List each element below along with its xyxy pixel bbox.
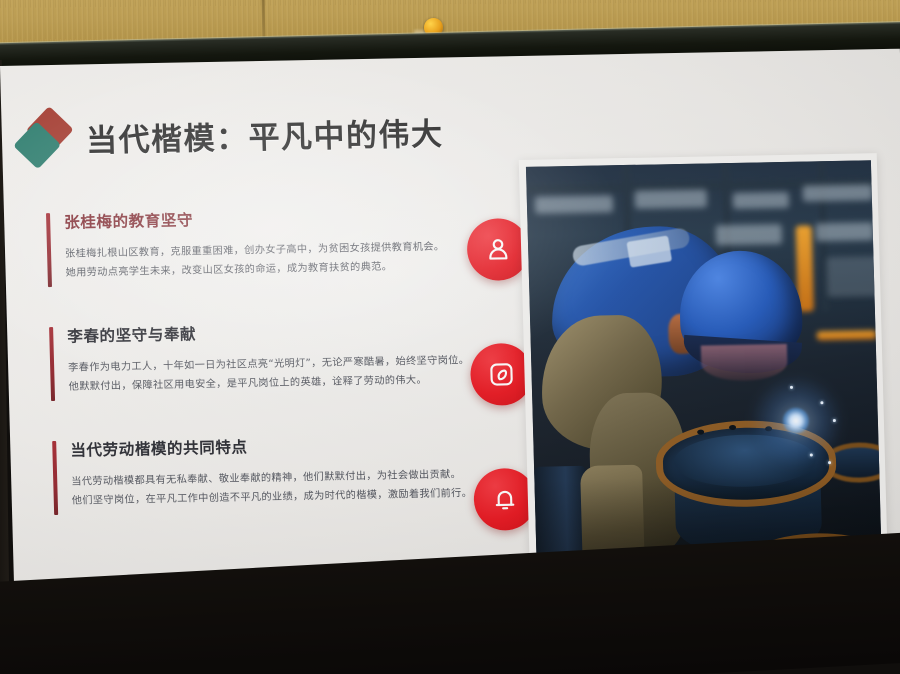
block-body: 张桂梅扎根山区教育，克服重重困难，创办女子高中，为贫困女孩提供教育机会。 她用劳… (65, 237, 468, 283)
slide-title-row: 当代楷模：平凡中的伟大 (17, 104, 444, 166)
content-block: 李春的坚守与奉献 李春作为电力工人，十年如一日为社区点亮“光明灯”，无论严寒酷暑… (49, 317, 471, 397)
block-heading: 当代劳动楷模的共同特点 (70, 431, 473, 461)
weld-spark (828, 461, 831, 464)
content-block: 当代劳动楷模的共同特点 当代劳动楷模都具有无私奉献、敬业奉献的精神，他们默默付出… (52, 431, 474, 511)
accent-bar (49, 327, 55, 401)
content-blocks: 张桂梅的教育坚守 张桂梅扎根山区教育，克服重重困难，创办女子高中，为贫困女孩提供… (46, 203, 474, 511)
factory-rack (716, 224, 783, 245)
factory-rack (816, 222, 874, 241)
slide-title: 当代楷模：平凡中的伟大 (85, 108, 444, 160)
leaf-square-icon (486, 359, 517, 390)
factory-rack (535, 195, 613, 213)
weld-spark (820, 401, 823, 404)
diamond-logo-icon (17, 111, 70, 166)
weld-spark (810, 453, 813, 456)
factory-rack (733, 192, 789, 209)
accent-bar (52, 441, 58, 515)
weld-spark (833, 419, 836, 422)
accent-bar (46, 213, 52, 287)
block-heading: 张桂梅的教育坚守 (64, 203, 467, 233)
block-body: 当代劳动楷模都具有无私奉献、敬业奉献的精神，他们默默付出，为社会做出贡献。 他们… (71, 465, 474, 511)
factory-rack (826, 256, 879, 297)
content-block: 张桂梅的教育坚守 张桂梅扎根山区教育，克服重重困难，创办女子高中，为贫困女孩提供… (46, 203, 468, 283)
factory-orange-strip (816, 330, 876, 340)
bell-icon (490, 484, 521, 515)
factory-rack (803, 184, 873, 201)
block-heading: 李春的坚守与奉献 (67, 317, 470, 347)
slide-photo (526, 160, 883, 599)
weld-spark (790, 386, 793, 389)
person-icon (483, 234, 514, 265)
factory-rack (635, 189, 707, 208)
room-photograph: 当代楷模：平凡中的伟大 张桂梅的教育坚守 张桂梅扎根山区教育，克服重重困难，创办… (0, 0, 900, 674)
block-body: 李春作为电力工人，十年如一日为社区点亮“光明灯”，无论严寒酷暑，始终坚守岗位。 … (68, 351, 471, 397)
